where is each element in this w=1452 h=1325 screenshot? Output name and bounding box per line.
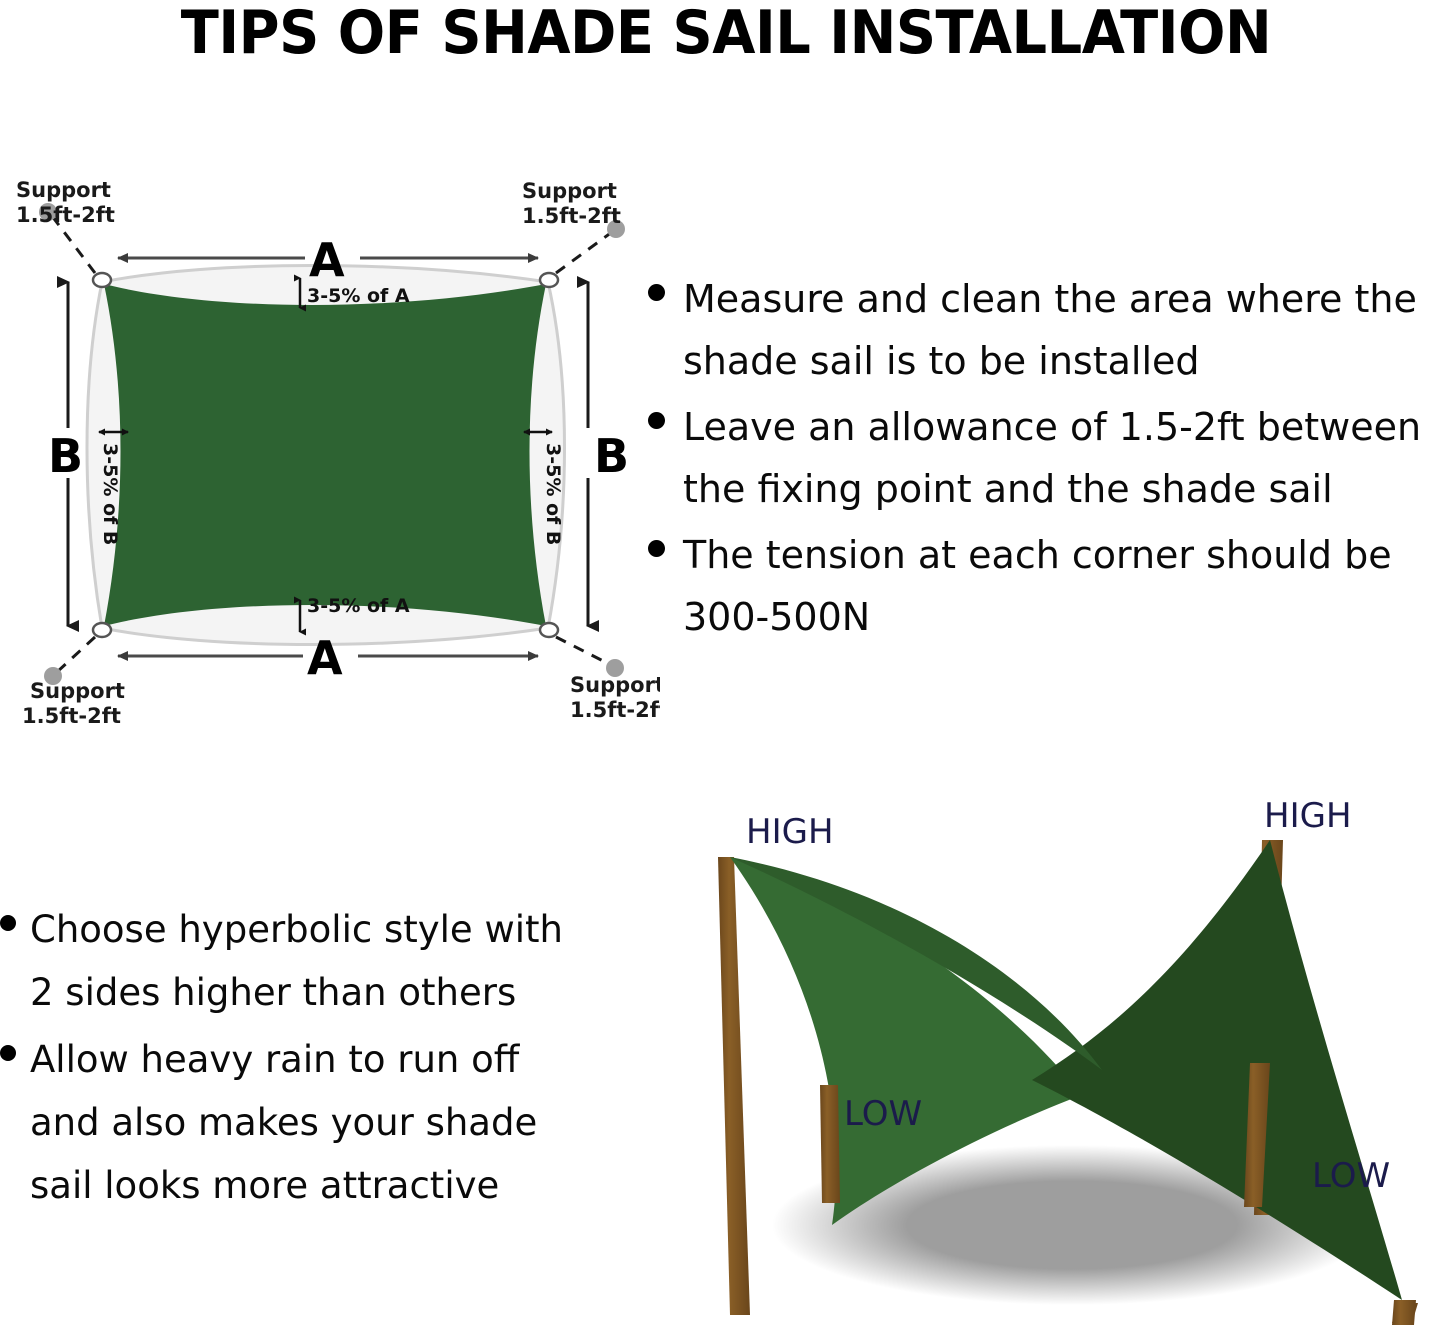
curve-label-right: 3-5% of B: [542, 443, 564, 545]
support-label-top-right-line2: 1.5ft-2ft: [522, 204, 621, 228]
post-low-right-lower: [1392, 1300, 1416, 1325]
tip-item: Leave an allowance of 1.5-2ft between th…: [648, 396, 1452, 520]
sail-body: [104, 284, 546, 626]
support-leader-bottom-left: [57, 637, 95, 672]
tip-line: shade sail is to be installed: [683, 330, 1417, 392]
tips-list-top: Measure and clean the area where the sha…: [648, 268, 1452, 652]
bullet-icon: [648, 284, 665, 301]
corner-ring-bottom-right: [540, 623, 558, 637]
post-low-left: [820, 1085, 840, 1203]
hyperbolic-sail-diagram: HIGH HIGH LOW LOW: [672, 795, 1452, 1325]
tip-item: The tension at each corner should be 300…: [648, 524, 1452, 648]
support-label-top-right-line1: Support: [522, 179, 617, 203]
post-high-left: [718, 857, 750, 1315]
tip-line: sail looks more attractive: [30, 1154, 537, 1217]
tip-text: Measure and clean the area where the sha…: [683, 268, 1417, 392]
tip-line: Leave an allowance of 1.5-2ft between: [683, 396, 1421, 458]
bullet-icon: [0, 1045, 16, 1061]
curve-label-left: 3-5% of B: [99, 443, 121, 545]
support-label-top-left-line2: 1.5ft-2ft: [16, 203, 115, 227]
tip-line: Allow heavy rain to run off: [30, 1028, 537, 1091]
label-high-right: HIGH: [1264, 796, 1352, 836]
dim-label-a-top: A: [309, 233, 345, 287]
support-label-top-left-line1: Support: [16, 178, 111, 202]
tip-line: 2 sides higher than others: [30, 961, 563, 1024]
page-title: TIPS OF SHADE SAIL INSTALLATION: [51, 2, 1401, 64]
bullet-icon: [648, 412, 665, 429]
tip-line: the fixing point and the shade sail: [683, 458, 1421, 520]
tip-item: Choose hyperbolic style with 2 sides hig…: [0, 898, 630, 1024]
tips-list-bottom: Choose hyperbolic style with 2 sides hig…: [0, 898, 630, 1221]
dim-label-a-bottom: A: [307, 631, 343, 685]
curve-label-top: 3-5% of A: [307, 285, 410, 307]
label-high-left: HIGH: [746, 812, 834, 852]
support-label-bottom-right-line2: 1.5ft-2ft: [570, 698, 660, 722]
corner-ring-top-left: [93, 273, 111, 287]
corner-ring-top-right: [540, 273, 558, 287]
support-label-bottom-left-line1: Support: [30, 679, 125, 703]
tip-text: Allow heavy rain to run off and also mak…: [30, 1028, 537, 1217]
tip-item: Measure and clean the area where the sha…: [648, 268, 1452, 392]
dim-label-b-left: B: [48, 429, 83, 483]
label-low-right: LOW: [1312, 1156, 1390, 1196]
tip-line: 300-500N: [683, 586, 1392, 648]
bullet-icon: [0, 915, 16, 931]
label-low-left: LOW: [844, 1094, 922, 1134]
support-leader-bottom-right: [556, 637, 611, 665]
tip-text: The tension at each corner should be 300…: [683, 524, 1392, 648]
tip-line: Measure and clean the area where the: [683, 268, 1417, 330]
tip-item: Allow heavy rain to run off and also mak…: [0, 1028, 630, 1217]
support-label-bottom-right-line1: Support: [570, 673, 660, 697]
support-leader-top-right: [556, 232, 612, 273]
support-label-bottom-left-line2: 1.5ft-2ft: [22, 704, 121, 728]
tip-line: and also makes your shade: [30, 1091, 537, 1154]
tip-text: Leave an allowance of 1.5-2ft between th…: [683, 396, 1421, 520]
bullet-icon: [648, 540, 665, 557]
tip-line: Choose hyperbolic style with: [30, 898, 563, 961]
rectangular-sail-diagram: Support 1.5ft-2ft Support 1.5ft-2ft Supp…: [0, 160, 660, 730]
dim-label-b-right: B: [594, 429, 629, 483]
corner-ring-bottom-left: [93, 623, 111, 637]
curve-label-bottom: 3-5% of A: [307, 595, 410, 617]
tip-line: The tension at each corner should be: [683, 524, 1392, 586]
tip-text: Choose hyperbolic style with 2 sides hig…: [30, 898, 563, 1024]
